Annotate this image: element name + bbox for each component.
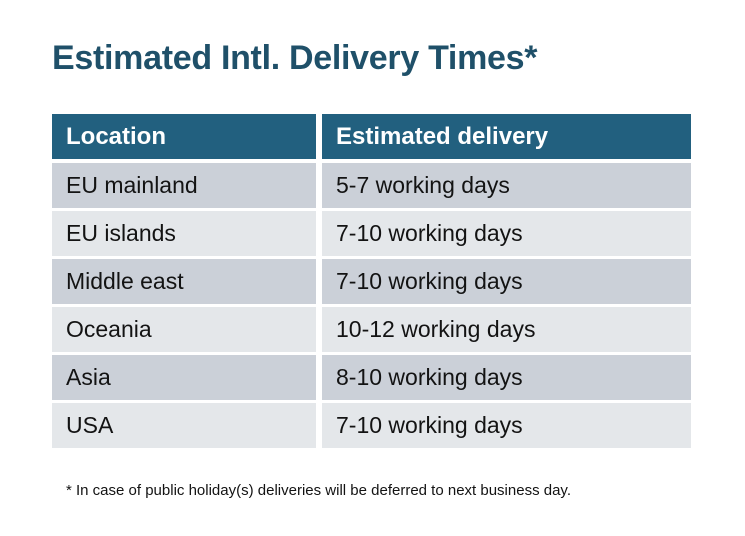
cell-location: USA (52, 403, 316, 448)
delivery-times-page: Estimated Intl. Delivery Times* Location… (0, 0, 745, 536)
cell-delivery: 8-10 working days (322, 355, 691, 400)
table-row: Middle east 7-10 working days (52, 259, 691, 304)
table-row: USA 7-10 working days (52, 403, 691, 448)
page-title: Estimated Intl. Delivery Times* (52, 38, 537, 78)
cell-delivery: 7-10 working days (322, 403, 691, 448)
table-row: EU islands 7-10 working days (52, 211, 691, 256)
column-header-location: Location (52, 114, 316, 159)
cell-location: Asia (52, 355, 316, 400)
table-row: Asia 8-10 working days (52, 355, 691, 400)
cell-location: EU islands (52, 211, 316, 256)
footnote-public-holiday: * In case of public holiday(s) deliverie… (66, 481, 571, 501)
cell-delivery: 7-10 working days (322, 259, 691, 304)
table-row: Oceania 10-12 working days (52, 307, 691, 352)
cell-location: Oceania (52, 307, 316, 352)
cell-delivery: 5-7 working days (322, 163, 691, 208)
cell-delivery: 10-12 working days (322, 307, 691, 352)
cell-delivery: 7-10 working days (322, 211, 691, 256)
table-header-row: Location Estimated delivery (52, 114, 691, 159)
table-row: EU mainland 5-7 working days (52, 163, 691, 208)
cell-location: Middle east (52, 259, 316, 304)
estimated-delivery-times-table: Location Estimated delivery EU mainland … (52, 114, 691, 451)
cell-location: EU mainland (52, 163, 316, 208)
column-header-estimated-delivery: Estimated delivery (322, 114, 691, 159)
